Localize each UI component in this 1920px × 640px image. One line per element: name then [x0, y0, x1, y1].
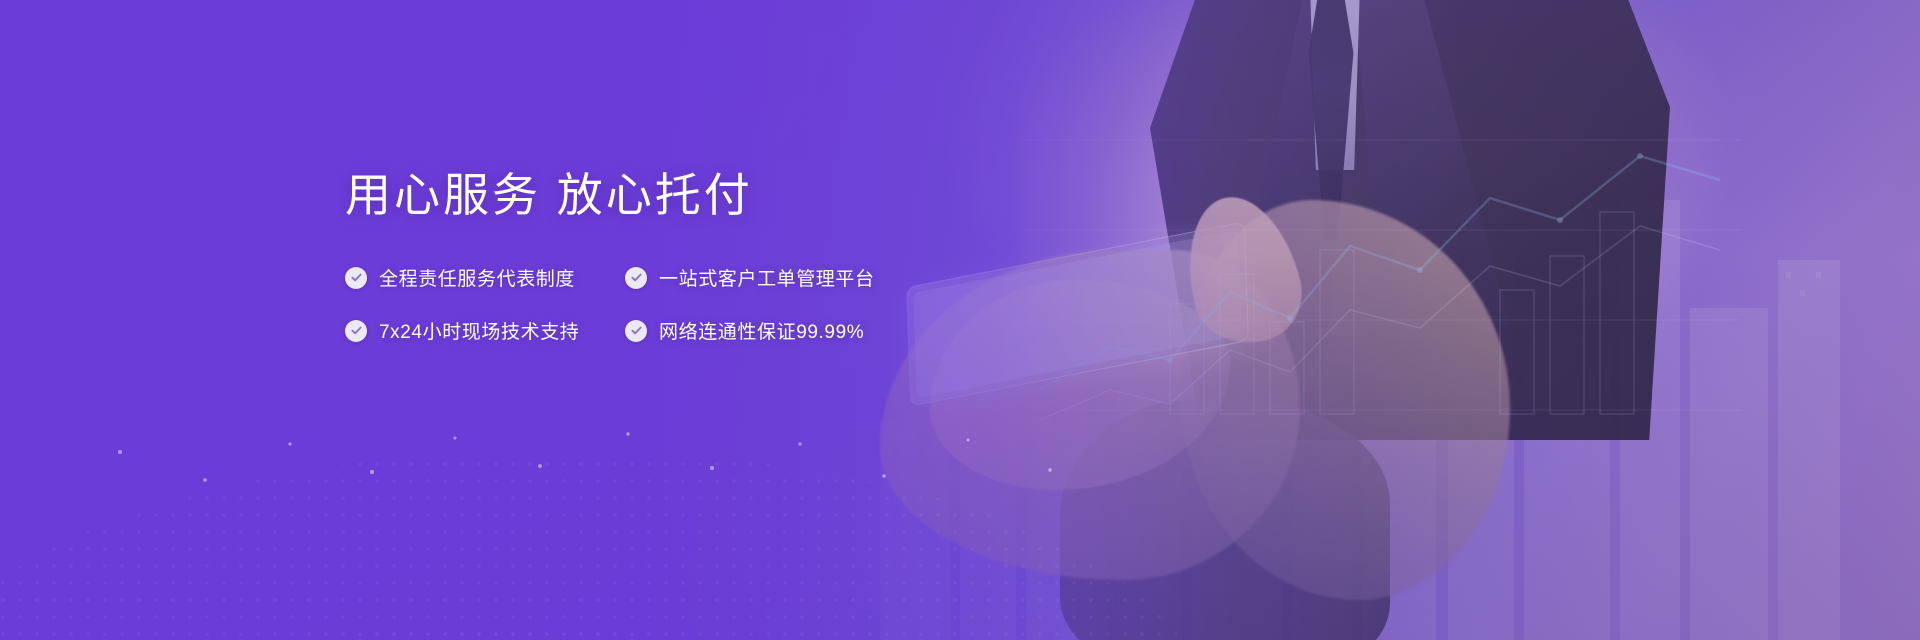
check-circle-icon	[625, 267, 647, 289]
check-circle-icon	[625, 320, 647, 342]
particle-dot-pattern	[0, 410, 1260, 640]
feature-item: 7x24小时现场技术支持	[345, 317, 625, 344]
feature-label: 7x24小时现场技术支持	[379, 317, 579, 344]
feature-item: 全程责任服务代表制度	[345, 264, 625, 291]
page-title: 用心服务 放心托付	[345, 168, 875, 222]
feature-label: 全程责任服务代表制度	[379, 264, 575, 291]
feature-row: 7x24小时现场技术支持 网络连通性保证99.99%	[345, 317, 875, 344]
check-circle-icon	[345, 320, 367, 342]
feature-item: 一站式客户工单管理平台	[625, 264, 875, 291]
feature-label: 网络连通性保证99.99%	[659, 317, 864, 344]
feature-label: 一站式客户工单管理平台	[659, 264, 875, 291]
feature-item: 网络连通性保证99.99%	[625, 317, 864, 344]
feature-list: 全程责任服务代表制度 一站式客户工单管理平台	[345, 264, 875, 344]
check-circle-icon	[345, 267, 367, 289]
banner-content: 用心服务 放心托付 全程责任服务代表制度	[345, 168, 875, 344]
feature-row: 全程责任服务代表制度 一站式客户工单管理平台	[345, 264, 875, 291]
hero-banner: 用心服务 放心托付 全程责任服务代表制度	[0, 0, 1920, 640]
